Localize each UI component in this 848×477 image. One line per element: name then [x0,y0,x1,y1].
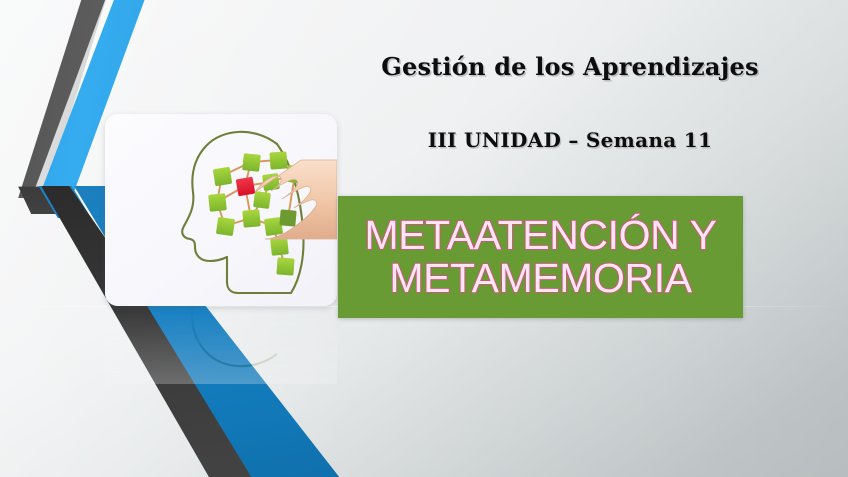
main-title-line-2: METAMEMORIA [389,257,691,300]
main-title-line-1: METAATENCIÓN Y [364,214,716,257]
main-title-green-box: METAATENCIÓN Y METAMEMORIA [338,196,743,318]
unit-week-subtitle: III UNIDAD – Semana 11 [360,128,780,152]
course-title: Gestión de los Aprendizajes [360,52,780,81]
picture-reflection [105,306,337,384]
highlighted-note [236,177,256,197]
picture-reflection-illustration [105,306,337,384]
brain-mindmap-illustration [105,114,337,306]
brain-mindmap-image-card [105,114,337,306]
presentation-slide: METAATENCIÓN Y METAMEMORIA Gestión de lo… [0,0,848,477]
